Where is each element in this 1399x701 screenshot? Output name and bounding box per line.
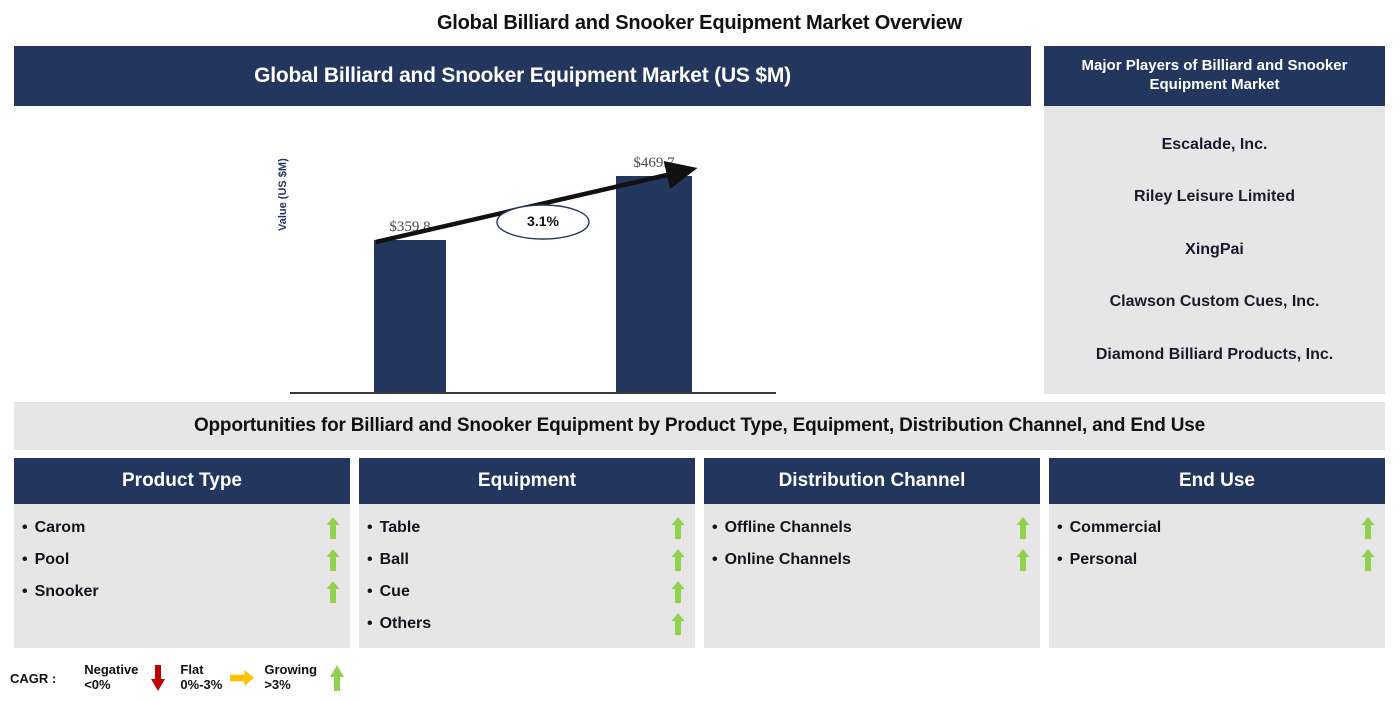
arrow-up-icon (326, 517, 340, 539)
arrow-up-icon (326, 549, 340, 571)
arrow-up-icon (671, 613, 685, 635)
arrow-right-icon (230, 665, 254, 691)
list-item: Personal (1057, 544, 1375, 576)
list-item: XingPai (1044, 237, 1385, 289)
x-axis-line (290, 392, 776, 394)
category-item-label: Personal (1057, 551, 1137, 569)
list-item: Others (367, 608, 685, 640)
legend-negative-text: Negative <0% (84, 663, 138, 693)
legend-entry-negative: Negative <0% (84, 663, 170, 693)
category-title: End Use (1049, 458, 1385, 504)
category-title: Distribution Channel (704, 458, 1040, 504)
page-title: Global Billiard and Snooker Equipment Ma… (0, 12, 1399, 35)
category-card-end-use: End Use Commercial Personal (1049, 458, 1385, 648)
list-item: Commercial (1057, 512, 1375, 544)
y-axis-label: Value (US $M) (277, 209, 289, 231)
bar-chart: Value (US $M) $359.8 $469.7 2026 2035 (14, 106, 1031, 394)
arrow-up-icon (671, 549, 685, 571)
major-players-list: Escalade, Inc. Riley Leisure Limited Xin… (1044, 106, 1385, 394)
legend-negative-name: Negative (84, 662, 138, 677)
list-item: Pool (22, 544, 340, 576)
major-players-panel: Major Players of Billiard and Snooker Eq… (1044, 46, 1385, 394)
legend-growing-name: Growing (264, 662, 317, 677)
legend-flat-name: Flat (180, 662, 203, 677)
list-item: Offline Channels (712, 512, 1030, 544)
arrow-down-icon (146, 665, 170, 691)
list-item: Diamond Billiard Products, Inc. (1044, 342, 1385, 394)
bar-2026 (374, 240, 446, 392)
category-cards-row: Product Type Carom Pool Snooker Equipmen… (14, 458, 1385, 648)
category-item-label: Others (367, 615, 431, 633)
cagr-legend-title: CAGR : (10, 671, 56, 686)
list-item: Snooker (22, 576, 340, 608)
top-row: Global Billiard and Snooker Equipment Ma… (14, 46, 1385, 394)
major-players-header: Major Players of Billiard and Snooker Eq… (1044, 46, 1385, 106)
arrow-up-icon (325, 665, 349, 691)
market-panel-body: Value (US $M) $359.8 $469.7 2026 2035 (14, 106, 1031, 394)
bar-2035 (616, 176, 692, 392)
cagr-legend: CAGR : Negative <0% Flat 0%-3% Growing >… (10, 658, 610, 698)
list-item: Clawson Custom Cues, Inc. (1044, 289, 1385, 341)
legend-entry-growing: Growing >3% (264, 663, 349, 693)
category-item-list: Carom Pool Snooker (14, 504, 350, 648)
category-title: Product Type (14, 458, 350, 504)
bar-value-2026: $359.8 (372, 219, 448, 236)
list-item: Escalade, Inc. (1044, 132, 1385, 184)
legend-entry-flat: Flat 0%-3% (180, 663, 254, 693)
category-item-label: Ball (367, 551, 409, 569)
list-item: Ball (367, 544, 685, 576)
legend-flat-range: 0%-3% (180, 677, 222, 692)
legend-flat-text: Flat 0%-3% (180, 663, 222, 693)
bar-value-2035: $469.7 (612, 155, 696, 172)
list-item: Riley Leisure Limited (1044, 184, 1385, 236)
cagr-growth-arrow (14, 106, 1031, 394)
opportunities-banner: Opportunities for Billiard and Snooker E… (14, 402, 1385, 450)
cagr-callout-label: 3.1% (498, 213, 588, 229)
arrow-up-icon (1016, 517, 1030, 539)
arrow-up-icon (326, 581, 340, 603)
category-item-list: Commercial Personal (1049, 504, 1385, 648)
arrow-up-icon (1361, 549, 1375, 571)
category-item-label: Cue (367, 583, 410, 601)
list-item: Carom (22, 512, 340, 544)
category-card-equipment: Equipment Table Ball Cue Others (359, 458, 695, 648)
arrow-up-icon (1361, 517, 1375, 539)
list-item: Cue (367, 576, 685, 608)
category-item-list: Offline Channels Online Channels (704, 504, 1040, 648)
arrow-up-icon (1016, 549, 1030, 571)
category-item-label: Offline Channels (712, 519, 852, 537)
legend-growing-text: Growing >3% (264, 663, 317, 693)
arrow-up-icon (671, 581, 685, 603)
category-item-label: Carom (22, 519, 85, 537)
market-chart-panel: Global Billiard and Snooker Equipment Ma… (14, 46, 1031, 394)
category-title: Equipment (359, 458, 695, 504)
market-panel-header: Global Billiard and Snooker Equipment Ma… (14, 46, 1031, 106)
category-item-label: Commercial (1057, 519, 1161, 537)
arrow-up-icon (671, 517, 685, 539)
category-item-label: Table (367, 519, 420, 537)
list-item: Online Channels (712, 544, 1030, 576)
legend-growing-range: >3% (264, 677, 290, 692)
category-card-distribution-channel: Distribution Channel Offline Channels On… (704, 458, 1040, 648)
legend-negative-range: <0% (84, 677, 110, 692)
category-item-label: Snooker (22, 583, 99, 601)
category-item-label: Pool (22, 551, 69, 569)
category-card-product-type: Product Type Carom Pool Snooker (14, 458, 350, 648)
category-item-list: Table Ball Cue Others (359, 504, 695, 648)
list-item: Table (367, 512, 685, 544)
category-item-label: Online Channels (712, 551, 851, 569)
